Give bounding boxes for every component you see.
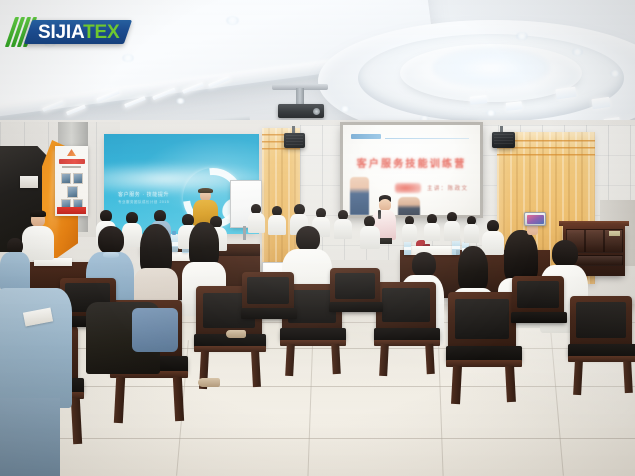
projection-screen-surface: 客户服务技能训练营 主讲：陈政文 [343,125,480,215]
slide-logo-icon [351,134,381,139]
chair[interactable] [512,276,568,334]
chair-leg [379,344,389,376]
person-torso [424,223,440,241]
slide-header-rule [385,138,469,139]
person-legs [0,398,60,476]
whiteboard-leg [243,226,246,240]
chair-leg [285,344,295,376]
poster-subtitle-line [62,166,81,168]
person-torso [248,213,265,233]
ceiling-center-light-glow [432,48,550,88]
audience-person [424,214,440,240]
slide-badge-graphic [395,183,421,193]
photo-conference-room-seminar: 客户服务 · 技能提升 专业服务团队成长计划 2015 [0,0,635,476]
chair-leg [505,366,516,402]
downlight-icon [486,110,496,116]
person-torso [464,224,479,243]
slide-portrait-photo [350,177,369,215]
person-hair-long [458,246,488,292]
person-head [552,240,578,267]
downlight-icon [176,98,185,104]
phone-screen [527,215,544,224]
chair-back-pad [576,302,626,338]
person-torso [444,221,460,241]
person-head [296,226,320,251]
chair-leg [573,361,583,395]
wall-speaker-right [492,132,515,148]
person-jeans [132,308,178,352]
slide-subtitle: 主讲：陈政文 [427,184,468,192]
slide-portrait-photo-secondary [398,197,420,215]
ceiling-projector [278,104,324,118]
projector-mount-arm [296,88,304,105]
chair[interactable] [330,268,384,324]
wall-poster-banner [55,146,88,216]
slide-title: 客户服务技能训练营 [343,155,480,170]
person-head [412,252,436,277]
chair-seat [329,302,383,312]
chair-back-pad [455,299,509,339]
chair-leg [331,344,341,374]
person-torso [0,252,30,290]
chair-leg [251,351,261,387]
wall-speaker-left [284,133,305,148]
chair-seat [511,312,567,323]
chair-back-pad [247,277,289,304]
audience-person [360,216,380,248]
audience-person [334,210,352,238]
backdrop-subline: 专业服务团队成长计划 2015 [118,199,188,206]
poster-logo-icon [67,149,76,156]
person-head [98,226,124,254]
smartphone-recording[interactable] [524,212,546,226]
audience-person [464,216,479,242]
downlight-icon [610,70,620,77]
chair[interactable] [242,272,298,332]
chair-leg [71,398,82,444]
sijiatex-logo-watermark: SIJIATEX [10,14,128,50]
person-torso [402,224,417,242]
person-hair [30,210,46,217]
projection-screen-frame: 客户服务技能训练营 主讲：陈政文 [340,122,483,218]
poster-footer-band [57,207,86,214]
backdrop-text-block: 客户服务 · 技能提升 专业服务团队成长计划 2015 [118,192,188,206]
downlight-icon [122,54,134,62]
chair-leg [623,361,633,393]
person-torso [360,226,380,249]
person-torso [0,288,72,408]
sideboard-label-plate [609,231,620,236]
chair[interactable] [570,296,635,396]
poster-thumbnail [73,173,83,184]
chair-leg [173,377,184,421]
audience-person [444,212,460,240]
chair-back-pad [335,273,375,299]
poster-thumbnail [67,186,78,198]
exhibit-sign-card [20,176,38,188]
chair-leg [451,366,462,404]
audience-person-foreground [0,288,72,476]
chair-back-pad [382,288,430,322]
presenter-hat [198,188,213,193]
chair-seat [241,308,297,319]
audience-person [248,204,265,232]
chair-back-pad [517,281,559,308]
person-torso [334,219,352,239]
audience-person [402,216,417,241]
poster-thumbnail [61,173,71,184]
downlight-icon [340,106,350,112]
audience-person-foreground [86,302,160,476]
logo-text-secondary: TEX [83,22,119,43]
person-collar [103,252,119,258]
chair[interactable] [376,282,442,376]
logo-text-primary: SIJIA [38,22,83,43]
downlight-icon [572,48,583,56]
backdrop-headline: 客户服务 · 技能提升 [118,192,188,199]
logo-text: SIJIATEX [38,23,119,42]
downlight-icon [516,32,528,40]
person-shoe [198,378,220,387]
ceiling-panel-light [506,101,523,111]
person-shoe [226,330,246,338]
downlight-icon [226,16,239,25]
audience-person [0,238,30,290]
poster-title-band [59,159,85,164]
chair-leg [425,344,435,374]
